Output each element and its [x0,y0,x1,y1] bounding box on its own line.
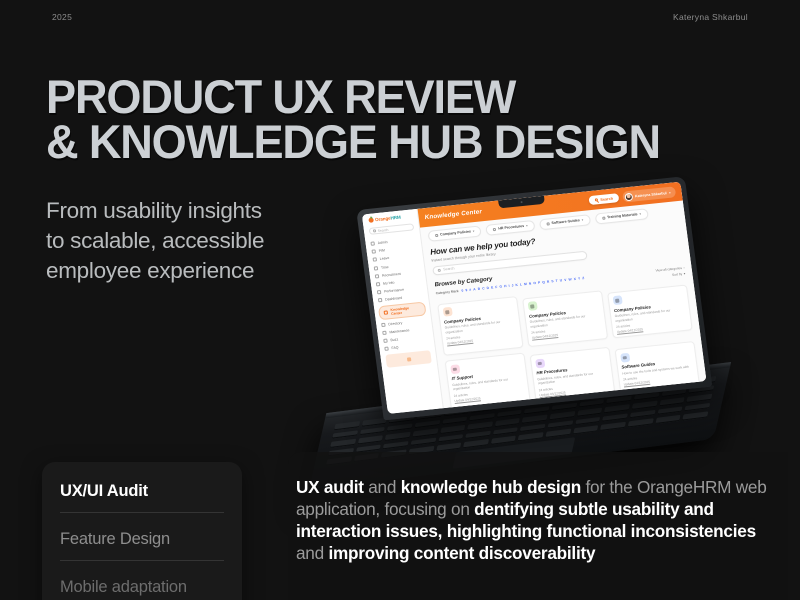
nav-pill-company-policies[interactable]: Company Policies▾ [428,225,483,241]
sidebar-item-label: Maintenance [389,328,409,334]
category-card[interactable]: Company Policies Guidelines, rules, and … [522,290,608,347]
category-card[interactable]: Company Policies Guidelines, rules, and … [437,296,523,356]
search-icon [373,229,376,232]
topbar-year: 2025 [52,12,72,22]
orangehrm-app: OrangeHRM Search Admin PIM Leave Time [362,182,707,414]
page-title-line-1: PRODUCT UX REVIEW [46,74,737,119]
dashboard-icon [378,298,383,302]
card-badge [450,364,460,374]
alpha-letter[interactable]: I [508,284,509,288]
chevron-down-icon: ▾ [683,271,685,275]
sidebar-item-label: PIM [379,249,386,254]
description-text: UX audit and knowledge hub design for th… [296,476,776,564]
camera-icon [520,201,522,203]
laptop-mockup: OrangeHRM Search Admin PIM Leave Time [352,184,800,474]
list-item[interactable]: Mobile adaptation [60,578,224,600]
policy-icon [435,234,438,237]
hero-search-placeholder: Search [443,267,455,272]
description-seg: and [364,477,401,497]
page-title: PRODUCT UX REVIEW & KNOWLEDGE HUB DESIGN [46,74,737,164]
category-card[interactable]: Company Policies Guidelines, rules, and … [607,284,693,338]
alpha-letter[interactable]: E [491,285,494,289]
sidebar-item-label: Leave [380,256,390,261]
alpha-letter[interactable]: # [469,288,471,292]
sidebar-search-placeholder: Search [377,227,388,232]
search-icon [438,269,441,272]
page-subtitle-line-2: to scalable, accessible [46,226,386,256]
nav-pill-hr-procedures[interactable]: HR Procedures▾ [486,220,536,236]
sidebar-item-label: Dashboard [385,296,403,302]
topbar: 2025 Kateryna Shkarbul [0,12,800,22]
chevron-down-icon: ▾ [669,190,671,194]
question-icon [384,347,389,351]
alpha-letter[interactable]: H [504,284,507,288]
avatar [624,192,633,201]
alpha-letter[interactable]: 9 [465,288,467,292]
app-header-title: Knowledge Center [424,208,482,221]
orange-icon [368,217,374,222]
admin-icon [370,242,375,246]
chevron-down-icon: ▾ [526,224,528,228]
card-badge [535,359,545,369]
alpha-letter[interactable]: N [529,281,532,285]
training-icon [602,216,605,219]
promo-icon [406,357,411,361]
search-icon [595,198,598,201]
description-seg: knowledge hub design [401,477,581,497]
pim-icon [372,250,377,254]
nav-pill-label: HR Procedures [498,224,524,231]
chart-icon [377,290,382,294]
description-seg: and [296,543,328,563]
category-card[interactable]: HR Procedures Guidelines, rules, and sta… [530,347,616,401]
slide-root: 2025 Kateryna Shkarbul PRODUCT UX REVIEW… [0,0,800,600]
description-seg: improving content discoverability [328,543,595,563]
alpha-letter[interactable]: X [573,277,576,281]
sidebar-item-label: Knowledge Center [390,305,421,316]
sidebar-promo[interactable] [385,350,431,368]
laptop-screen: OrangeHRM Search Admin PIM Leave Time [362,182,707,414]
sidebar-item-label: Recruitment [382,272,401,278]
description-panel: UX audit and knowledge hub design for th… [288,452,788,600]
card-badge [612,296,622,306]
header-search-label: Search [600,196,613,201]
chevron-down-icon: ▾ [639,212,641,216]
software-icon [546,222,549,225]
chevron-down-icon: ▾ [473,229,475,233]
category-card[interactable]: Software Guides How to use the tools and… [615,341,700,392]
alpha-letter[interactable]: Z [582,276,585,280]
alpha-letter[interactable]: T [555,279,558,283]
sidebar-item-label: Buzz [390,338,398,343]
sidebar-item-label: Admin [377,240,387,245]
alpha-letter[interactable]: V [564,278,567,282]
briefcase-icon [538,362,542,366]
nav-pill-label: Software Guides [551,219,580,226]
user-menu[interactable]: Kateryna Shkarbul ▾ [622,186,676,203]
alpha-letter[interactable]: J [511,283,513,287]
alpha-letter[interactable]: G [499,284,502,288]
sidebar-item-label: FAQ [391,346,399,351]
page-title-line-2: & KNOWLEDGE HUB DESIGN [46,119,737,164]
list-item[interactable]: UX/UI Audit [60,482,224,513]
card-badge [527,301,537,311]
clock-icon [374,266,379,270]
policy-icon [445,310,449,314]
alpha-letter[interactable]: L [520,282,523,286]
sidebar-item-label: My Info [383,281,395,286]
person-icon [376,282,381,286]
alpha-letter[interactable]: 0 [461,288,463,292]
leave-icon [373,258,378,262]
recruitment-icon [375,274,380,278]
alpha-letter[interactable]: W [568,277,572,281]
app-main: Company Policies▾ HR Procedures▾ Softwar… [420,201,706,409]
alpha-letter[interactable]: Q [542,280,545,284]
software-icon [623,356,627,360]
nav-pill-training-materials[interactable]: Training Materials▾ [595,208,649,224]
chevron-down-icon: ▾ [582,218,584,222]
alpha-letter[interactable]: K [515,283,518,287]
wrench-icon [382,331,387,335]
policy-icon [615,299,619,303]
chevron-right-icon: › [683,265,685,269]
directory-icon [381,323,386,327]
list-item[interactable]: Feature Design [60,530,224,561]
laptop-lid: OrangeHRM Search Admin PIM Leave Time [356,176,712,420]
alpha-letter[interactable]: A [473,287,476,291]
nav-pill-label: Training Materials [607,213,638,220]
alpha-letter[interactable]: S [551,279,554,283]
category-card-grid: Company Policies Guidelines, rules, and … [437,278,700,408]
alpha-letter[interactable]: U [559,278,562,282]
header-search-button[interactable]: Search [589,193,620,205]
book-icon [384,310,389,314]
hr-icon [493,228,496,231]
alpha-letter[interactable]: B [477,287,480,291]
alpha-letter[interactable]: P [538,280,541,284]
card-badge [442,307,452,317]
page-subtitle: From usability insights to scalable, acc… [46,196,386,286]
description-seg: UX audit [296,477,364,497]
sidebar-item-label: Performance [384,288,404,294]
user-name: Kateryna Shkarbul [635,191,667,198]
card-badge [620,353,630,363]
sidebar-item-label: Directory [388,321,402,326]
alpha-letter[interactable]: Y [578,276,581,280]
page-subtitle-line-1: From usability insights [46,196,386,226]
topbar-author: Kateryna Shkarbul [673,12,748,22]
alpha-letter[interactable]: M [524,282,527,286]
alpha-letter[interactable]: C [482,286,485,290]
alpha-letter[interactable]: R [547,279,550,283]
page-subtitle-line-3: employee experience [46,256,386,286]
policy-icon [530,304,534,308]
alpha-letter[interactable]: O [533,281,536,285]
sidebar-search-input[interactable]: Search [369,223,415,235]
support-icon [453,367,457,371]
sidebar-item-label: Time [381,265,389,270]
buzz-icon [383,339,388,343]
deliverables-card: UX/UI Audit Feature Design Mobile adapta… [42,462,242,600]
logo-hrm-text: HRM [390,215,401,221]
alpha-letter[interactable]: D [486,286,489,290]
nav-pill-label: Company Policies [440,230,471,237]
alpha-letter[interactable]: F [495,285,498,289]
nav-pill-software-guides[interactable]: Software Guides▾ [539,214,591,230]
category-card[interactable]: IT Support Guidelines, rules, and standa… [445,353,531,408]
